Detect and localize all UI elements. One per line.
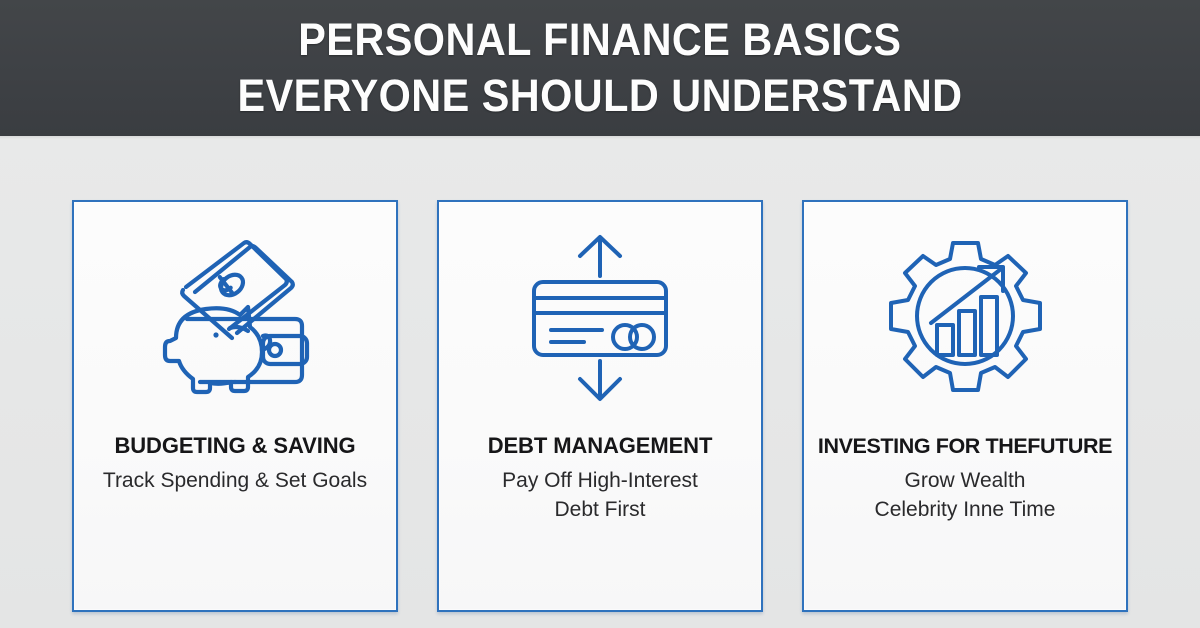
card-debt-management[interactable]: DEBT MANAGEMENT Pay Off High-Interest De… <box>437 200 763 612</box>
card-subtitle: Grow Wealth Celebrity Inne Time <box>812 466 1118 524</box>
card-text-slot: BUDGETING & SAVING Track Spending & Set … <box>74 432 396 495</box>
card-text-slot: INVESTING FOR THEFUTURE Grow Wealth Cele… <box>804 432 1126 524</box>
card-icon-slot <box>804 202 1126 432</box>
card-heading: INVESTING FOR THEFUTURE <box>812 432 1118 460</box>
card-heading: DEBT MANAGEMENT <box>447 432 753 460</box>
card-subtitle: Pay Off High-Interest Debt First <box>447 466 753 524</box>
card-subtitle-line: Debt First <box>447 495 753 524</box>
page-title-line-2: EVERYONE SHOULD UNDERSTAND <box>237 68 962 124</box>
card-subtitle-line: Pay Off High-Interest <box>447 466 753 495</box>
credit-card-arrows-icon <box>520 230 680 405</box>
page-title-line-1: PERSONAL FINANCE BASICS <box>298 12 901 68</box>
card-text-slot: DEBT MANAGEMENT Pay Off High-Interest De… <box>439 432 761 524</box>
gear-growth-chart-icon <box>883 237 1048 397</box>
card-icon-slot <box>74 202 396 432</box>
card-subtitle-line: Grow Wealth <box>812 466 1118 495</box>
cards-row: BUDGETING & SAVING Track Spending & Set … <box>72 200 1128 612</box>
header-divider <box>0 136 1200 139</box>
card-subtitle: Track Spending & Set Goals <box>82 466 388 495</box>
card-icon-slot <box>439 202 761 432</box>
card-subtitle-line: Track Spending & Set Goals <box>82 466 388 495</box>
card-heading: BUDGETING & SAVING <box>82 432 388 460</box>
card-subtitle-line: Celebrity Inne Time <box>812 495 1118 524</box>
infographic-root: PERSONAL FINANCE BASICS EVERYONE SHOULD … <box>0 0 1200 628</box>
header-bar: PERSONAL FINANCE BASICS EVERYONE SHOULD … <box>0 0 1200 136</box>
card-budgeting-saving[interactable]: BUDGETING & SAVING Track Spending & Set … <box>72 200 398 612</box>
card-investing-future[interactable]: INVESTING FOR THEFUTURE Grow Wealth Cele… <box>802 200 1128 612</box>
piggy-bank-wallet-icon <box>140 235 330 400</box>
